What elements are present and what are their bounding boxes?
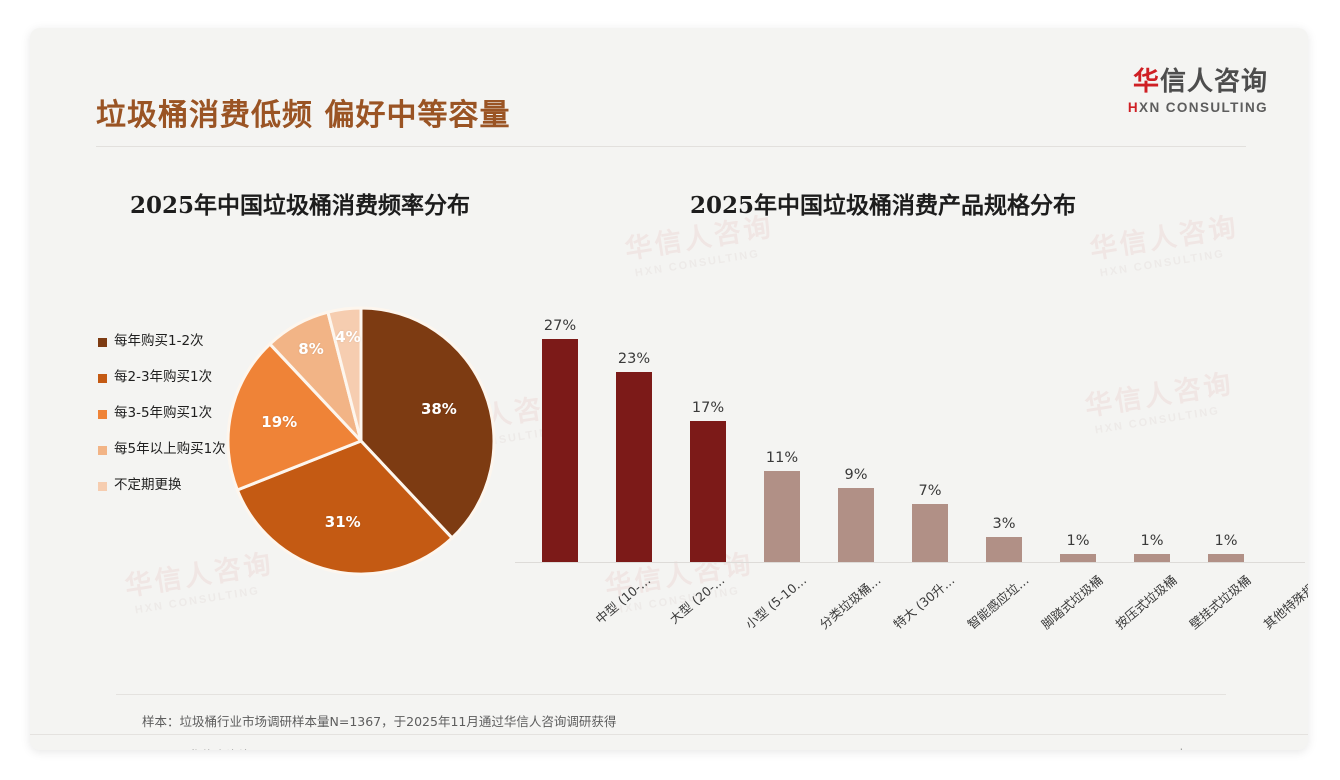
bar-category-label: 小型 (5-10… xyxy=(740,570,809,633)
bar-value-label: 17% xyxy=(692,400,724,416)
logo-en-accent: H xyxy=(1128,100,1139,115)
x-axis-line xyxy=(515,562,1305,563)
watermark: 华信人咨询 HXN CONSULTING xyxy=(1087,205,1243,281)
pie-slice-value: 31% xyxy=(325,513,361,531)
pie-svg xyxy=(226,306,496,576)
bar-chart: 27%中型 (10-…23%大型 (20-…17%小型 (5-10…11%分类垃… xyxy=(515,278,1305,678)
bar-plot-area: 27%中型 (10-…23%大型 (20-…17%小型 (5-10…11%分类垃… xyxy=(515,278,1305,563)
bar-rect[interactable] xyxy=(616,372,652,562)
bar-value-label: 23% xyxy=(618,351,650,367)
bar-category-label: 大型 (20-… xyxy=(665,570,728,627)
bar-column[interactable]: 23% xyxy=(597,278,671,562)
footer-divider xyxy=(30,734,1308,735)
bar-rect[interactable] xyxy=(542,339,578,562)
bar-rect[interactable] xyxy=(764,471,800,562)
bar-value-label: 3% xyxy=(992,516,1015,532)
source-divider xyxy=(116,694,1226,695)
bar-category-label: 壁挂式垃圾桶 xyxy=(1185,570,1255,633)
bar-value-label: 9% xyxy=(844,467,867,483)
pie-chart-title: 2025年中国垃圾桶消费频率分布 xyxy=(130,186,470,220)
bar-value-label: 1% xyxy=(1214,533,1237,549)
bar-column[interactable]: 1% xyxy=(1189,278,1263,562)
bar-rect[interactable] xyxy=(838,488,874,562)
bar-value-label: 1% xyxy=(1140,533,1163,549)
legend-swatch-icon xyxy=(98,374,107,383)
legend-swatch-icon xyxy=(98,410,107,419)
bar-category-label: 分类垃圾桶… xyxy=(815,570,885,633)
bar-category-label: 特大 (30升… xyxy=(888,570,957,633)
pie-legend-label: 每年购买1-2次 xyxy=(114,333,204,350)
pie-legend-label: 每2-3年购买1次 xyxy=(114,369,212,386)
bar-rect[interactable] xyxy=(912,504,948,562)
footer-copyright: ©2026.1 HXR华信人咨询 xyxy=(102,745,251,750)
logo-english: HXN CONSULTING xyxy=(1128,100,1268,115)
legend-swatch-icon xyxy=(98,446,107,455)
bar-value-label: 11% xyxy=(766,450,798,466)
bar-rect[interactable] xyxy=(1134,554,1170,562)
pie-slice-value: 38% xyxy=(421,400,457,418)
pie-graphic: 38%31%19%8%4% xyxy=(226,306,496,576)
logo-rest-chars: 信人咨询 xyxy=(1160,67,1268,97)
pie-slice-value: 4% xyxy=(330,328,366,346)
bar-rect[interactable] xyxy=(690,421,726,562)
bar-category-label: 脚踏式垃圾桶 xyxy=(1037,570,1107,633)
bar-column[interactable]: 11% xyxy=(745,278,819,562)
page-title: 垃圾桶消费低频 偏好中等容量 xyxy=(96,90,510,134)
logo-en-rest: XN CONSULTING xyxy=(1139,100,1268,115)
bar-column[interactable]: 1% xyxy=(1041,278,1115,562)
bar-column[interactable]: 9% xyxy=(819,278,893,562)
bar-column[interactable]: 17% xyxy=(671,278,745,562)
bar-category-label: 其他特殊规格 xyxy=(1259,570,1308,633)
watermark-en: HXN CONSULTING xyxy=(634,245,778,279)
header-divider xyxy=(96,146,1246,147)
bar-column[interactable]: 1% xyxy=(1115,278,1189,562)
source-note: 样本：垃圾桶行业市场调研样本量N=1367，于2025年11月通过华信人咨询调研… xyxy=(142,711,616,730)
bar-category-label: 按压式垃圾桶 xyxy=(1111,570,1181,633)
logo-chinese: 华信人咨询 xyxy=(1128,68,1268,97)
pie-chart: 每年购买1-2次每2-3年购买1次每3-5年购买1次每5年以上购买1次不定期更换… xyxy=(70,278,530,608)
brand-logo: 华信人咨询 HXN CONSULTING xyxy=(1128,68,1268,115)
bar-chart-title: 2025年中国垃圾桶消费产品规格分布 xyxy=(690,186,1076,220)
logo-accent-char: 华 xyxy=(1133,67,1160,97)
pie-slice-value: 8% xyxy=(293,340,329,358)
bar-rect[interactable] xyxy=(986,537,1022,562)
bar-rect[interactable] xyxy=(1060,554,1096,562)
pie-legend-label: 不定期更换 xyxy=(114,477,182,494)
bar-column[interactable]: 7% xyxy=(893,278,967,562)
pie-legend-label: 每5年以上购买1次 xyxy=(114,441,226,458)
pie-slice-value: 19% xyxy=(261,413,297,431)
pie-legend-label: 每3-5年购买1次 xyxy=(114,405,212,422)
legend-swatch-icon xyxy=(98,482,107,491)
bar-category-label: 智能感应垃… xyxy=(963,570,1033,633)
slide-header: 垃圾桶消费低频 偏好中等容量 华信人咨询 HXN CONSULTING xyxy=(30,28,1308,138)
bar-column[interactable]: 27% xyxy=(523,278,597,562)
bar-value-label: 27% xyxy=(544,318,576,334)
bar-value-label: 7% xyxy=(918,483,941,499)
bar-column[interactable]: 3% xyxy=(967,278,1041,562)
slide-card: 华信人咨询 HXN CONSULTING 华信人咨询 HXN CONSULTIN… xyxy=(30,28,1308,750)
watermark-cn: 华信人咨询 xyxy=(1087,205,1241,267)
footer-website[interactable]: www.hxrcon.com xyxy=(1151,746,1242,750)
legend-swatch-icon xyxy=(98,338,107,347)
bar-category-label: 中型 (10-… xyxy=(591,570,654,627)
bar-value-label: 1% xyxy=(1066,533,1089,549)
bar-rect[interactable] xyxy=(1208,554,1244,562)
watermark-en: HXN CONSULTING xyxy=(1099,245,1243,279)
